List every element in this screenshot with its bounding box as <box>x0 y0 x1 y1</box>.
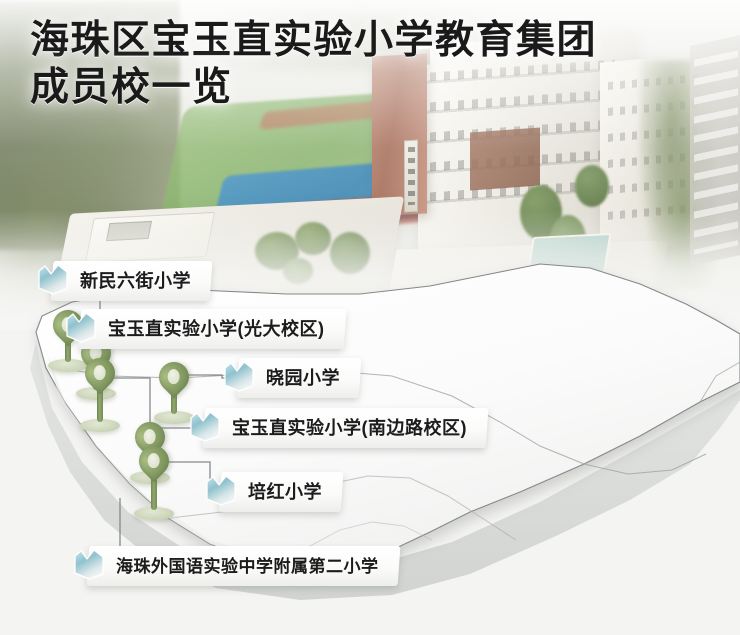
rooftop-tree <box>575 165 609 207</box>
school-label-1[interactable]: 新民六街小学 <box>51 261 213 301</box>
mountain-badge-icon <box>62 309 102 349</box>
mountain-badge-icon <box>220 358 260 398</box>
mountain-badge-icon <box>186 408 226 448</box>
school-name: 晓园小学 <box>266 369 340 387</box>
map-pin-icon[interactable] <box>78 358 122 432</box>
school-name: 海珠外国语实验中学附属第二小学 <box>116 558 379 575</box>
infographic-poster: 海珠区宝玉直实验小学教育集团 成员校一览 <box>0 0 740 635</box>
district-map-area: 新民六街小学 <box>0 250 740 635</box>
school-name: 宝玉直实验小学(南边路校区) <box>232 419 467 437</box>
mountain-badge-icon <box>34 261 74 301</box>
building-brown-facade <box>470 128 540 191</box>
school-label-6[interactable]: 海珠外国语实验中学附属第二小学 <box>87 546 400 586</box>
pin-head <box>153 356 195 398</box>
pin-head <box>79 352 121 394</box>
school-label-5[interactable]: 培红小学 <box>219 472 344 512</box>
school-label-3[interactable]: 晓园小学 <box>237 358 362 398</box>
school-label-4[interactable]: 宝玉直实验小学(南边路校区) <box>203 408 489 448</box>
pin-head <box>133 440 175 482</box>
mountain-badge-icon <box>70 546 110 586</box>
map-pin-icon[interactable] <box>132 446 176 520</box>
mountain-badge-icon <box>202 472 242 512</box>
school-name: 新民六街小学 <box>80 272 191 290</box>
school-name: 培红小学 <box>248 483 322 501</box>
school-label-2[interactable]: 宝玉直实验小学(光大校区) <box>79 309 346 349</box>
vertical-signage <box>404 140 418 213</box>
school-name: 宝玉直实验小学(光大校区) <box>108 320 325 338</box>
page-title: 海珠区宝玉直实验小学教育集团 成员校一览 <box>30 18 597 112</box>
